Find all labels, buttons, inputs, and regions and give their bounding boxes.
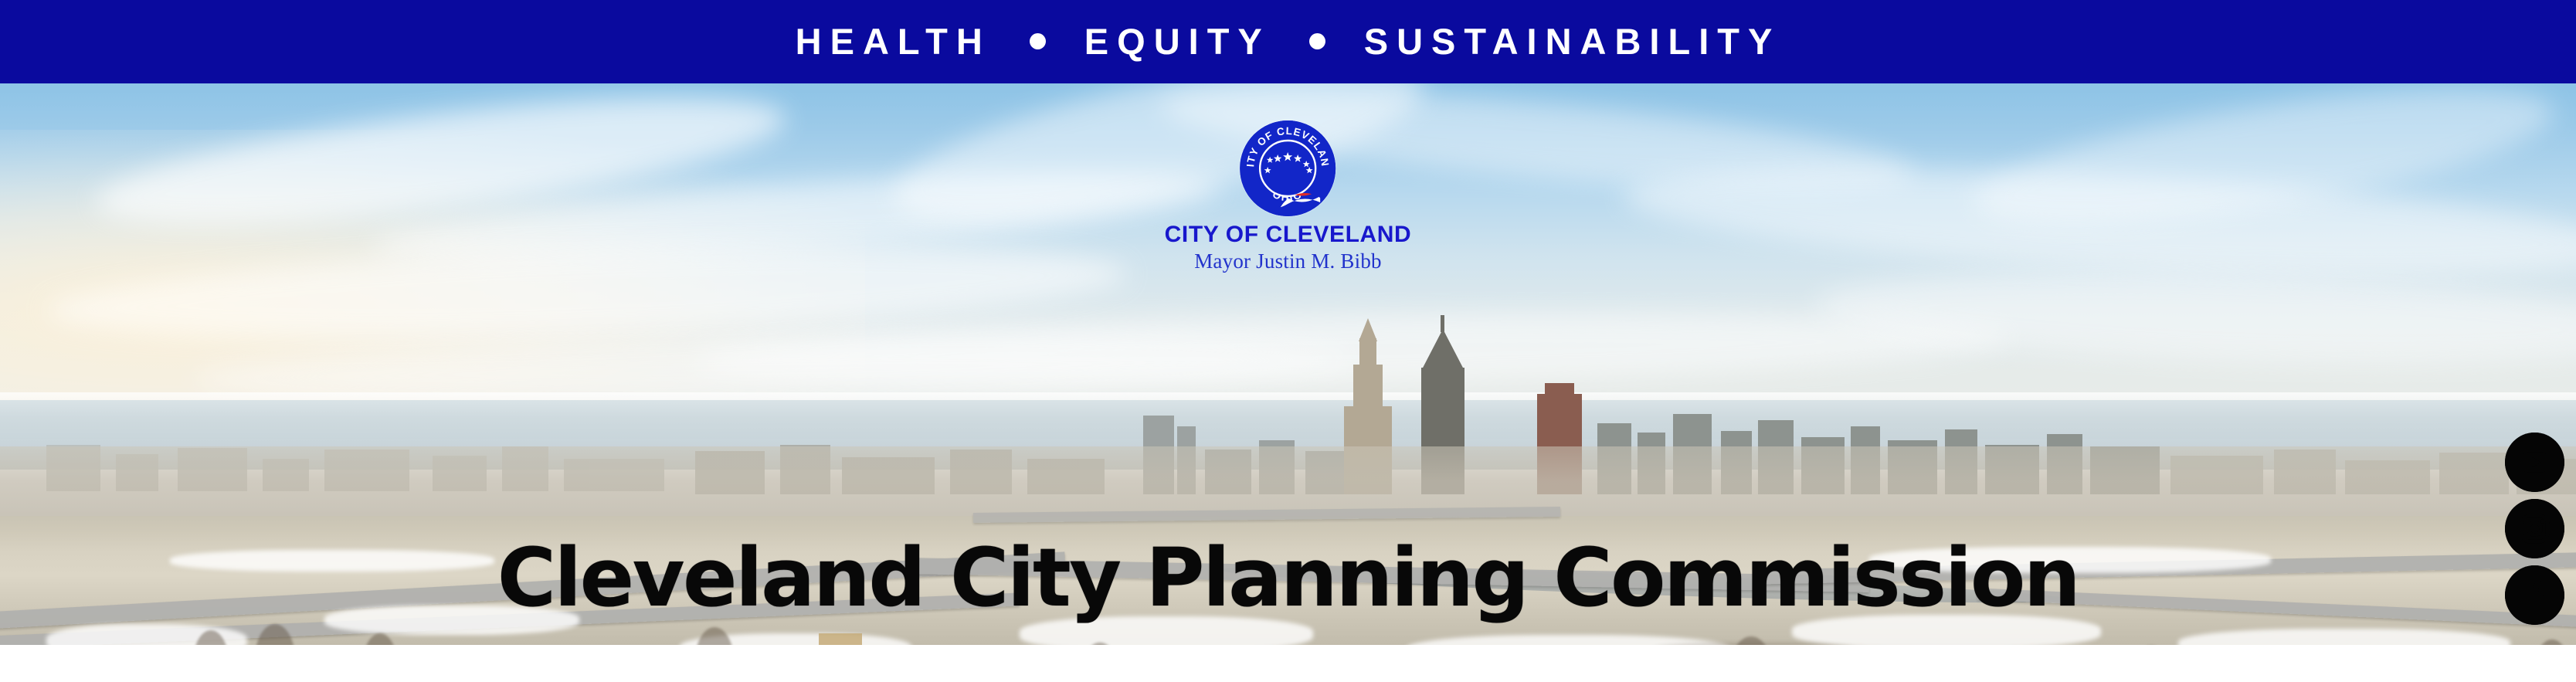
facebook-icon <box>2505 565 2564 625</box>
org-name-label: CITY OF CLEVELAND <box>1165 222 1412 247</box>
tagline-separator-dot-2 <box>1309 33 1325 49</box>
church-tower <box>819 633 862 645</box>
page-root: HEALTH EQUITY SUSTAINABILITY <box>0 0 2576 682</box>
hero-photo: CITY OF CLEVELAND OHIO <box>0 83 2576 645</box>
snow-patch <box>170 550 494 572</box>
tagline-word-equity: EQUITY <box>1084 23 1271 59</box>
page-title: Cleveland City Planning Commission <box>497 538 2079 618</box>
tagline-separator-dot-1 <box>1030 33 1046 49</box>
city-seal-icon: CITY OF CLEVELAND OHIO <box>1240 120 1336 216</box>
instagram-icon <box>2505 499 2564 558</box>
youtube-icon <box>2505 433 2564 492</box>
tagline-words: HEALTH EQUITY SUSTAINABILITY <box>796 23 1781 59</box>
tagline-word-health: HEALTH <box>796 23 991 59</box>
social-links-rail <box>2505 433 2564 625</box>
city-logo-lockup[interactable]: CITY OF CLEVELAND OHIO <box>1165 120 1412 272</box>
tagline-word-sustainability: SUSTAINABILITY <box>1364 23 1781 59</box>
snow-patch <box>2178 629 2510 645</box>
footer-whitespace <box>0 645 2576 682</box>
instagram-link[interactable] <box>2505 499 2564 558</box>
facebook-link[interactable] <box>2505 565 2564 625</box>
mayor-name-label: Mayor Justin M. Bibb <box>1194 250 1382 272</box>
tagline-banner: HEALTH EQUITY SUSTAINABILITY <box>0 0 2576 83</box>
youtube-link[interactable] <box>2505 433 2564 492</box>
